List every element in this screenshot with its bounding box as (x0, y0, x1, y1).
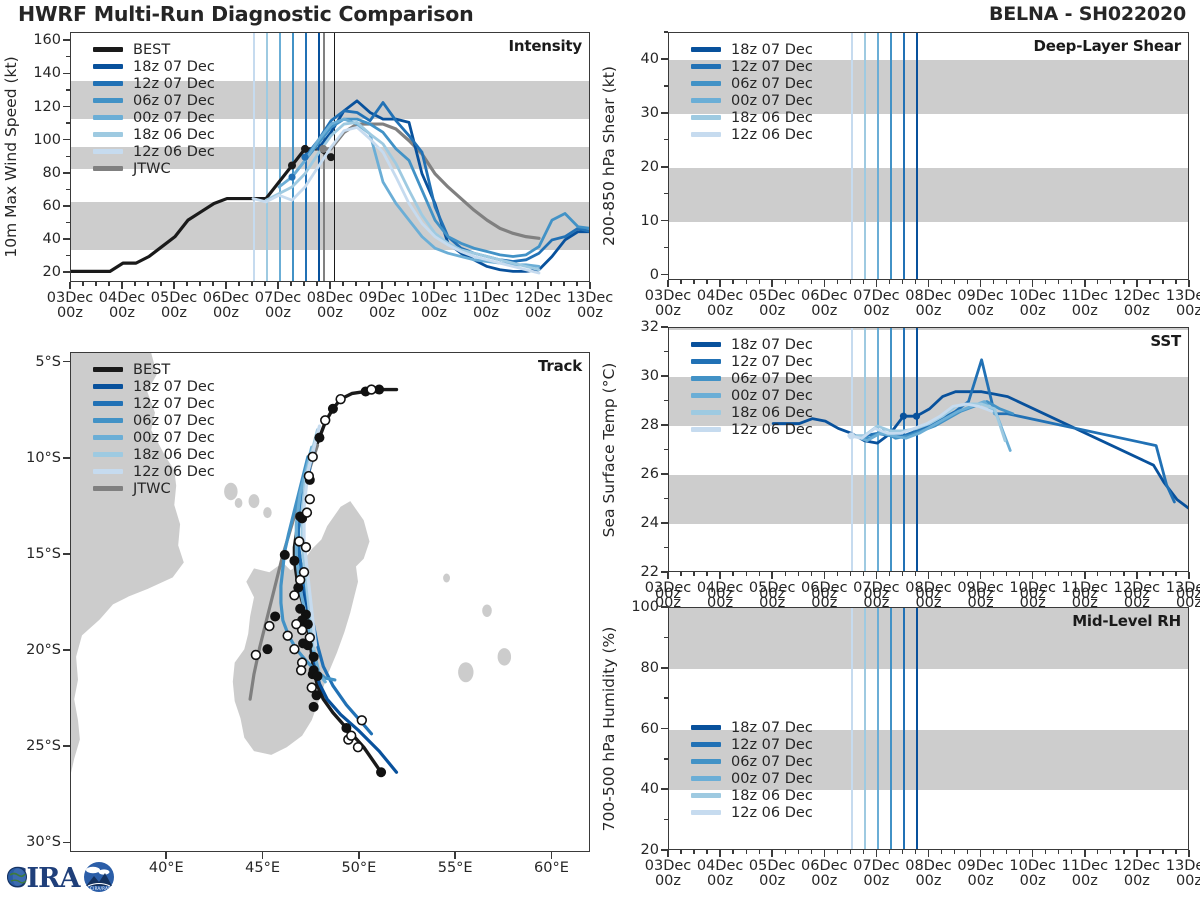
x-tick-label: 05Dec00z (749, 289, 796, 320)
legend-swatch (691, 376, 721, 381)
legend-label: 00z 07 Dec (133, 110, 215, 126)
x-top-tick-label: 00z (811, 587, 837, 602)
x-tick-hour: 00z (1072, 873, 1098, 889)
x-minor-tick (1019, 280, 1020, 284)
x-minor-tick (759, 850, 760, 854)
legend-label: 00z 07 Dec (731, 388, 813, 404)
x-tick-hour: 00z (473, 305, 499, 321)
x-minor-tick (693, 280, 694, 284)
x-minor-tick (785, 850, 786, 854)
legend-swatch (691, 359, 721, 364)
x-tick-day: 10Dec (411, 290, 458, 306)
x-minor-tick (889, 572, 890, 576)
legend-swatch (691, 776, 721, 781)
x-minor-tick (303, 282, 304, 286)
y-tick-label: 32 (641, 319, 659, 335)
x-minor-tick (746, 850, 747, 854)
x-tick-label: 03Dec00z (645, 859, 692, 890)
x-minor-tick (251, 282, 252, 286)
x-minor-tick (1097, 850, 1098, 854)
x-tick-mark (433, 282, 435, 289)
x-tick-label: 09Dec00z (957, 289, 1004, 320)
x-minor-tick (1162, 850, 1163, 854)
x-tick-label: 03Dec00z (645, 289, 692, 320)
panel-title-shear: Deep-Layer Shear (1033, 37, 1181, 55)
legend-label: BEST (133, 42, 170, 58)
lon-tick-mark (165, 852, 167, 859)
track-marker-open (290, 645, 299, 654)
y-tick-mark (63, 172, 70, 174)
x-minor-tick (941, 572, 942, 576)
x-minor-tick (693, 850, 694, 854)
legend-shear: 18z 07 Dec12z 07 Dec06z 07 Dec00z 07 Dec… (691, 41, 813, 143)
y-minor-tick (664, 400, 668, 401)
x-minor-tick (524, 282, 525, 286)
legend-swatch (93, 486, 123, 491)
legend-swatch (691, 759, 721, 764)
x-tick-mark (824, 850, 826, 857)
x-tick-mark (537, 282, 539, 289)
y-minor-tick (66, 89, 70, 90)
y-tick-mark (63, 73, 70, 75)
x-tick-label: 10Dec00z (411, 291, 458, 322)
x-tick-day: 06Dec (801, 288, 848, 304)
y-tick-mark (661, 274, 668, 276)
legend-item: JTWC (93, 480, 215, 497)
legend-label: 18z 07 Dec (731, 337, 813, 353)
legend-item: 12z 06 Dec (691, 421, 813, 438)
x-tick-mark (1084, 572, 1086, 579)
x-top-tick-label: 00z (1176, 587, 1200, 602)
x-tick-hour: 00z (577, 305, 603, 321)
track-marker-open (292, 620, 301, 629)
lat-tick-mark (63, 745, 70, 747)
x-tick-hour: 00z (213, 305, 239, 321)
x-minor-tick (160, 282, 161, 286)
x-minor-tick (238, 282, 239, 286)
x-tick-mark (667, 572, 669, 579)
x-minor-tick (732, 850, 733, 854)
x-tick-hour: 00z (1176, 303, 1200, 319)
x-minor-tick (1123, 572, 1124, 576)
legend-item: 00z 07 Dec (93, 429, 215, 446)
y-tick-label: 22 (641, 564, 659, 580)
legend-label: 18z 06 Dec (731, 788, 813, 804)
legend-item: 18z 07 Dec (691, 41, 813, 58)
x-minor-tick (472, 282, 473, 286)
track-marker-open (307, 683, 316, 692)
track-marker-filled (309, 702, 319, 712)
x-tick-day: 04Dec (697, 288, 744, 304)
x-tick-mark (928, 850, 930, 857)
y-axis-label-rh: 700-500 hPa Humidity (%) (600, 626, 618, 831)
x-tick-day: 05Dec (749, 858, 796, 874)
x-tick-day: 08Dec (307, 290, 354, 306)
x-minor-tick (993, 850, 994, 854)
legend-item: 18z 07 Dec (691, 719, 813, 736)
y-tick-mark (661, 326, 668, 328)
x-tick-day: 12Dec (1114, 288, 1161, 304)
x-tick-hour: 00z (1176, 873, 1200, 889)
x-tick-hour: 00z (915, 303, 941, 319)
x-tick-day: 08Dec (905, 858, 952, 874)
x-minor-tick (746, 280, 747, 284)
x-top-tick-label: 00z (1020, 587, 1046, 602)
lat-tick-mark (63, 361, 70, 363)
x-minor-tick (850, 280, 851, 284)
x-tick-day: 10Dec (1009, 288, 1056, 304)
x-tick-hour: 00z (525, 305, 551, 321)
x-tick-mark (1136, 280, 1138, 287)
legend-swatch (691, 393, 721, 398)
series-line (266, 122, 539, 269)
legend-item: 18z 06 Dec (691, 109, 813, 126)
best-point (301, 145, 309, 153)
y-tick-label: 20 (641, 842, 659, 858)
legend-swatch (93, 149, 123, 154)
legend-label: 18z 06 Dec (731, 110, 813, 126)
x-tick-day: 11Dec (1062, 288, 1109, 304)
legend-label: 12z 07 Dec (731, 59, 813, 75)
y-tick-label: 60 (641, 721, 659, 737)
x-tick-hour: 00z (1124, 873, 1150, 889)
x-minor-tick (1019, 850, 1020, 854)
y-tick-label: 30 (641, 368, 659, 384)
x-tick-hour: 00z (1124, 303, 1150, 319)
x-tick-day: 10Dec (1009, 858, 1056, 874)
x-minor-tick (316, 282, 317, 286)
x-tick-day: 12Dec (1114, 858, 1161, 874)
lon-tick-mark (262, 852, 264, 859)
x-tick-hour: 00z (655, 303, 681, 319)
legend-item: 00z 07 Dec (691, 387, 813, 404)
x-tick-label: 11Dec00z (1062, 289, 1109, 320)
y-tick-mark (63, 139, 70, 141)
x-tick-label: 04Dec00z (697, 289, 744, 320)
legend-swatch (691, 81, 721, 86)
x-tick-mark (824, 280, 826, 287)
svg-text:CIRA/RAMMB: CIRA/RAMMB (90, 886, 116, 891)
x-tick-hour: 00z (1020, 303, 1046, 319)
y-tick-label: 20 (43, 264, 61, 280)
x-tick-mark (277, 282, 279, 289)
x-tick-label: 11Dec00z (1062, 859, 1109, 890)
x-tick-hour: 00z (968, 873, 994, 889)
y-tick-mark (63, 271, 70, 273)
track-marker-filled (313, 671, 323, 681)
x-minor-tick (811, 850, 812, 854)
storm-id-title: BELNA - SH022020 (989, 3, 1186, 25)
legend-label: 18z 06 Dec (731, 405, 813, 421)
x-minor-tick (134, 282, 135, 286)
legend-item: 18z 06 Dec (93, 446, 215, 463)
x-minor-tick (1175, 572, 1176, 576)
x-minor-tick (407, 282, 408, 286)
lon-tick-label: 40°E (149, 861, 184, 876)
legend-swatch (691, 132, 721, 137)
x-tick-mark (381, 282, 383, 289)
y-tick-mark (63, 238, 70, 240)
x-top-tick-label: 00z (759, 587, 785, 602)
x-minor-tick (954, 280, 955, 284)
y-tick-label: 30 (641, 105, 659, 121)
x-tick-label: 05Dec00z (151, 291, 198, 322)
lon-tick-mark (454, 852, 456, 859)
y-tick-mark (661, 728, 668, 730)
legend-swatch (93, 98, 123, 103)
x-minor-tick (954, 572, 955, 576)
legend-swatch (93, 384, 123, 389)
x-tick-label: 12Dec00z (515, 291, 562, 322)
x-tick-mark (928, 572, 930, 579)
legend-label: 06z 07 Dec (731, 371, 813, 387)
x-tick-day: 09Dec (957, 288, 1004, 304)
legend-label: 18z 07 Dec (133, 379, 215, 395)
x-tick-label: 06Dec00z (203, 291, 250, 322)
legend-swatch (93, 166, 123, 171)
legend-label: 12z 06 Dec (133, 464, 215, 480)
legend-item: 06z 07 Dec (93, 92, 215, 109)
y-tick-mark (63, 106, 70, 108)
x-tick-day: 05Dec (749, 288, 796, 304)
x-minor-tick (446, 282, 447, 286)
legend-swatch (93, 115, 123, 120)
track-marker-filled (295, 604, 305, 614)
x-tick-mark (329, 282, 331, 289)
x-tick-hour: 00z (915, 873, 941, 889)
x-minor-tick (915, 850, 916, 854)
x-top-tick-label: 00z (655, 587, 681, 602)
y-minor-tick (66, 189, 70, 190)
x-tick-hour: 00z (863, 303, 889, 319)
legend-rh: 18z 07 Dec12z 07 Dec06z 07 Dec00z 07 Dec… (691, 719, 813, 821)
x-tick-mark (876, 572, 878, 579)
x-top-tick-label: 00z (1124, 587, 1150, 602)
y-tick-label: 10 (641, 213, 659, 229)
island (224, 483, 237, 501)
x-tick-day: 05Dec (151, 290, 198, 306)
y-minor-tick (664, 351, 668, 352)
series-line (773, 392, 1189, 510)
x-tick-mark (1188, 850, 1190, 857)
y-tick-label: 80 (43, 165, 61, 181)
x-tick-mark (121, 282, 123, 289)
y-tick-mark (661, 424, 668, 426)
legend-item: 12z 07 Dec (93, 395, 215, 412)
lon-tick-label: 55°E (438, 861, 473, 876)
legend-item: 00z 07 Dec (691, 770, 813, 787)
x-minor-tick (394, 282, 395, 286)
x-minor-tick (290, 282, 291, 286)
track-marker-open (347, 731, 356, 740)
x-minor-tick (967, 572, 968, 576)
x-minor-tick (1123, 280, 1124, 284)
legend-item: 18z 07 Dec (93, 58, 215, 75)
y-tick-mark (661, 522, 668, 524)
sst-point (848, 432, 855, 439)
x-tick-label: 07Dec00z (853, 859, 900, 890)
x-top-tick-label: 00z (707, 587, 733, 602)
track-marker-open (295, 537, 304, 546)
x-tick-hour: 00z (759, 303, 785, 319)
legend-label: 12z 07 Dec (133, 396, 215, 412)
x-tick-label: 06Dec00z (801, 289, 848, 320)
x-tick-mark (1084, 280, 1086, 287)
track-marker-open (283, 631, 292, 640)
x-tick-label: 06Dec00z (801, 859, 848, 890)
x-tick-label: 09Dec00z (359, 291, 406, 322)
legend-item: 18z 06 Dec (691, 404, 813, 421)
island (498, 648, 511, 666)
legend-label: 12z 07 Dec (133, 76, 215, 92)
x-minor-tick (759, 280, 760, 284)
x-tick-day: 03Dec (645, 858, 692, 874)
x-tick-label: 10Dec00z (1009, 859, 1056, 890)
lat-tick-label: 20°S (26, 642, 61, 658)
x-top-tick-label: 00z (968, 587, 994, 602)
x-minor-tick (498, 282, 499, 286)
x-minor-tick (837, 572, 838, 576)
x-minor-tick (889, 850, 890, 854)
legend-label: 12z 07 Dec (731, 737, 813, 753)
track-marker-filled (280, 550, 290, 560)
plot-frame-sst: SST18z 07 Dec12z 07 Dec06z 07 Dec00z 07 … (668, 327, 1189, 572)
x-tick-label: 12Dec00z (1114, 289, 1161, 320)
island (263, 507, 271, 518)
page-title: HWRF Multi-Run Diagnostic Comparison (18, 2, 474, 26)
legend-item: 18z 06 Dec (691, 787, 813, 804)
x-minor-tick (1149, 572, 1150, 576)
y-tick-label: 140 (33, 65, 61, 81)
y-tick-mark (661, 112, 668, 114)
x-minor-tick (889, 280, 890, 284)
panel-rh: Mid-Level RH18z 07 Dec12z 07 Dec06z 07 D… (668, 607, 1189, 850)
x-tick-mark (980, 280, 982, 287)
x-tick-label: 04Dec00z (697, 859, 744, 890)
x-minor-tick (1045, 850, 1046, 854)
legend-swatch (691, 64, 721, 69)
x-minor-tick (1058, 280, 1059, 284)
legend-item: 12z 06 Dec (691, 126, 813, 143)
panel-title-track: Track (538, 357, 582, 375)
y-tick-mark (661, 788, 668, 790)
track-marker-open (265, 622, 274, 631)
x-tick-day: 03Dec (47, 290, 94, 306)
lat-tick-mark (63, 842, 70, 844)
x-tick-mark (1188, 572, 1190, 579)
x-minor-tick (368, 282, 369, 286)
x-minor-tick (706, 850, 707, 854)
island (482, 604, 492, 617)
x-minor-tick (837, 280, 838, 284)
lon-tick-label: 60°E (534, 861, 569, 876)
track-marker-open (367, 385, 376, 394)
x-tick-hour: 00z (707, 303, 733, 319)
y-minor-tick (664, 449, 668, 450)
legend-label: 06z 07 Dec (133, 93, 215, 109)
legend-swatch (691, 98, 721, 103)
legend-item: 12z 06 Dec (93, 143, 215, 160)
x-minor-tick (1071, 572, 1072, 576)
y-axis-label-sst: Sea Surface Temp (°C) (600, 362, 618, 537)
y-tick-label: 40 (43, 231, 61, 247)
x-minor-tick (1071, 280, 1072, 284)
x-minor-tick (863, 850, 864, 854)
legend-label: 12z 07 Dec (731, 354, 813, 370)
track-marker-open (357, 716, 366, 725)
x-minor-tick (1071, 850, 1072, 854)
x-minor-tick (915, 280, 916, 284)
x-tick-label: 13Dec00z (1166, 859, 1200, 890)
plot-frame-shear: Deep-Layer Shear18z 07 Dec12z 07 Dec06z … (668, 32, 1189, 280)
legend-label: 06z 07 Dec (731, 754, 813, 770)
x-minor-tick (95, 282, 96, 286)
track-marker-filled (289, 556, 299, 566)
x-tick-hour: 00z (369, 305, 395, 321)
legend-label: JTWC (133, 161, 171, 177)
panel-shear: Deep-Layer Shear18z 07 Dec12z 07 Dec06z … (668, 32, 1189, 280)
legend-swatch (691, 742, 721, 747)
y-minor-tick (664, 31, 668, 32)
x-minor-tick (1097, 280, 1098, 284)
sst-point (913, 413, 920, 420)
x-tick-label: 09Dec00z (957, 859, 1004, 890)
sst-point (900, 413, 907, 420)
legend-label: 06z 07 Dec (133, 413, 215, 429)
x-tick-hour: 00z (968, 303, 994, 319)
legend-swatch (93, 64, 123, 69)
lon-tick-mark (358, 852, 360, 859)
legend-label: 12z 06 Dec (731, 422, 813, 438)
x-minor-tick (199, 282, 200, 286)
x-tick-label: 13Dec00z (567, 291, 614, 322)
x-tick-mark (1032, 572, 1034, 579)
legend-swatch (691, 427, 721, 432)
x-tick-mark (824, 572, 826, 579)
legend-item: 00z 07 Dec (93, 109, 215, 126)
x-tick-label: 13Dec00z (1166, 289, 1200, 320)
x-tick-hour: 00z (421, 305, 447, 321)
y-tick-label: 80 (641, 660, 659, 676)
x-tick-mark (485, 282, 487, 289)
y-tick-mark (661, 667, 668, 669)
jtwc-point (319, 145, 327, 153)
x-tick-mark (667, 850, 669, 857)
y-axis-label-shear: 200-850 hPa Shear (kt) (600, 66, 618, 246)
legend-item: BEST (93, 361, 215, 378)
x-tick-label: 12Dec00z (1114, 859, 1161, 890)
y-minor-tick (664, 85, 668, 86)
legend-item: 18z 07 Dec (93, 378, 215, 395)
x-tick-mark (980, 850, 982, 857)
y-tick-mark (661, 220, 668, 222)
legend-label: JTWC (133, 481, 171, 497)
legend-swatch (691, 410, 721, 415)
x-minor-tick (1045, 572, 1046, 576)
y-tick-label: 0 (650, 267, 659, 283)
legend-label: 06z 07 Dec (731, 76, 813, 92)
x-top-tick-label: 00z (1072, 587, 1098, 602)
x-minor-tick (1162, 280, 1163, 284)
x-tick-mark (1084, 850, 1086, 857)
x-minor-tick (732, 280, 733, 284)
y-minor-tick (66, 255, 70, 256)
lat-tick-mark (63, 457, 70, 459)
run-point (288, 173, 295, 180)
legend-swatch (93, 418, 123, 423)
lat-tick-label: 5°S (35, 354, 61, 370)
x-minor-tick (863, 572, 864, 576)
